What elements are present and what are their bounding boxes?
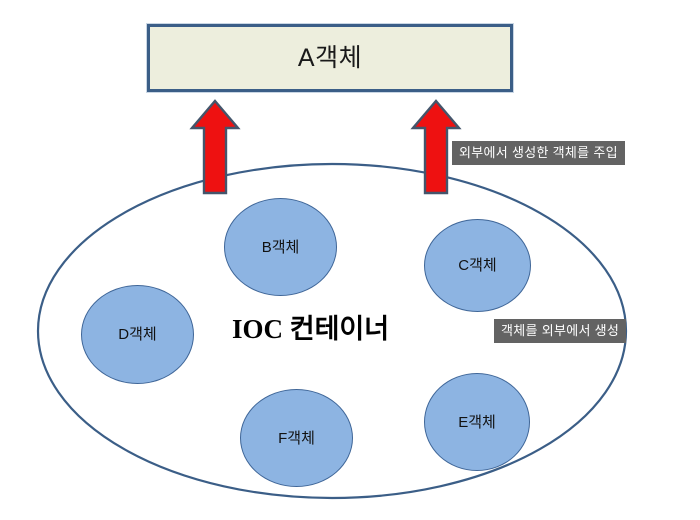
node-label-b: B객체 xyxy=(262,240,300,255)
diagram-canvas: A객체 IOC 컨테이너 B객체 C객체 D객체 E객체 F객체 외부에서 생성… xyxy=(0,0,700,520)
node-circle-e: E객체 xyxy=(424,373,530,471)
node-circle-b: B객체 xyxy=(224,198,337,296)
ioc-container-label: IOC 컨테이너 xyxy=(232,316,389,343)
node-label-f: F객체 xyxy=(278,431,315,446)
callout-inject-external-object: 외부에서 생성한 객체를 주입 xyxy=(452,141,625,165)
node-label-e: E객체 xyxy=(458,415,496,430)
node-circle-c: C객체 xyxy=(424,219,531,312)
node-label-c: C객체 xyxy=(458,258,496,273)
node-circle-d: D객체 xyxy=(81,285,194,384)
callout-create-object-externally: 객체를 외부에서 생성 xyxy=(494,319,626,343)
node-circle-f: F객체 xyxy=(240,389,353,487)
node-label-d: D객체 xyxy=(118,327,156,342)
